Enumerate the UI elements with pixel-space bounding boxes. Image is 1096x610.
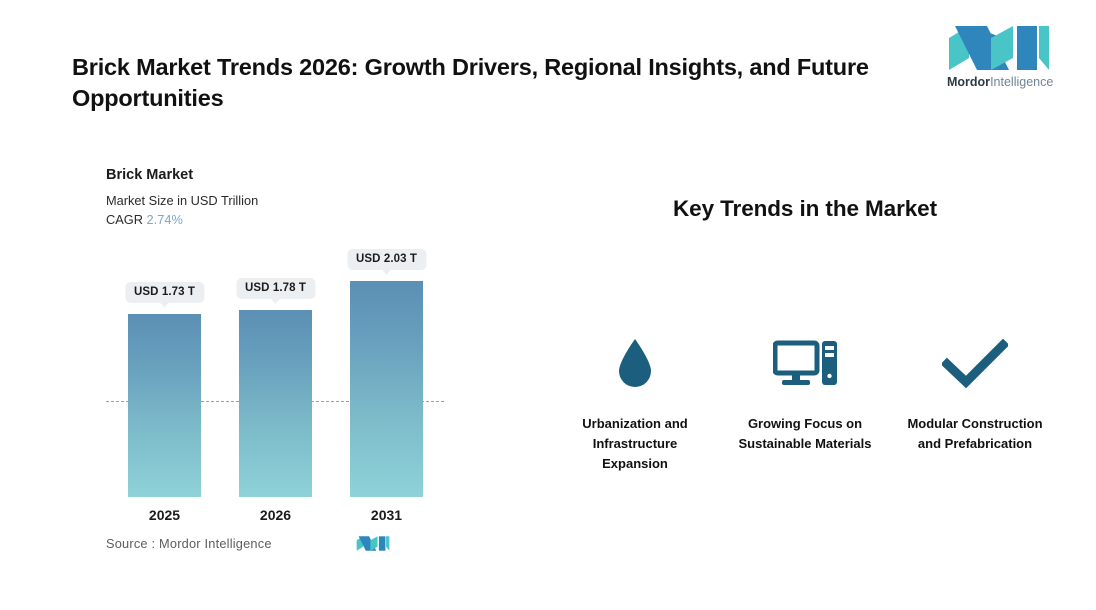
- checkmark-icon: [900, 336, 1050, 392]
- cagr-label: CAGR: [106, 212, 143, 227]
- bar-2031[interactable]: [350, 281, 423, 497]
- chart-title: Brick Market: [106, 166, 466, 184]
- desktop-computer-icon: [730, 336, 880, 392]
- source-label: Source : Mordor Intelligence: [106, 536, 272, 551]
- chart-source-row: Source : Mordor Intelligence: [106, 535, 446, 552]
- water-droplet-icon: [560, 336, 710, 392]
- trend-item-urbanization: Urbanization and Infrastructure Expansio…: [560, 336, 710, 474]
- bar-group-2031: USD 2.03 T 2031: [350, 252, 423, 497]
- bar-year-2026: 2026: [260, 507, 291, 523]
- trend-item-modular-construction: Modular Construction and Prefabrication: [900, 336, 1050, 474]
- bar-group-2026: USD 1.78 T 2026: [239, 252, 312, 497]
- mordor-intelligence-logo: MordorIntelligence: [947, 24, 1051, 96]
- bar-value-label-2025: USD 1.73 T: [125, 282, 204, 303]
- key-trends-panel: Key Trends in the Market Urbanization an…: [560, 196, 1050, 222]
- bar-value-label-2026: USD 1.78 T: [236, 278, 315, 299]
- bar-group-2025: USD 1.73 T 2025: [128, 252, 201, 497]
- water-droplet-icon-glyph: [613, 336, 657, 392]
- trend-label-sustainable-materials: Growing Focus on Sustainable Materials: [730, 414, 880, 454]
- bar-year-2031: 2031: [371, 507, 402, 523]
- checkmark-icon-glyph: [942, 339, 1008, 389]
- cagr-value: 2.74%: [147, 212, 183, 227]
- logo-word-light: Intelligence: [990, 75, 1053, 89]
- chart-panel: Brick Market Market Size in USD Trillion…: [106, 166, 466, 566]
- bar-chart-plot: USD 1.73 T 2025 USD 1.78 T 2026 USD 2.03…: [106, 252, 466, 497]
- mordor-logo-wordmark: MordorIntelligence: [947, 75, 1051, 89]
- bar-2025[interactable]: [128, 314, 201, 497]
- chart-subtitle: Market Size in USD Trillion: [106, 193, 466, 208]
- mordor-logo-mark: [947, 24, 1051, 72]
- chart-cagr: CAGR 2.74%: [106, 212, 466, 227]
- trend-label-urbanization: Urbanization and Infrastructure Expansio…: [560, 414, 710, 474]
- bar-year-2025: 2025: [149, 507, 180, 523]
- key-trends-list: Urbanization and Infrastructure Expansio…: [560, 336, 1050, 474]
- bar-value-label-2031: USD 2.03 T: [347, 249, 426, 270]
- bar-2026[interactable]: [239, 310, 312, 497]
- key-trends-heading: Key Trends in the Market: [560, 196, 1050, 222]
- trend-label-modular-construction: Modular Construction and Prefabrication: [900, 414, 1050, 454]
- desktop-computer-icon-glyph: [773, 338, 837, 390]
- trend-item-sustainable-materials: Growing Focus on Sustainable Materials: [730, 336, 880, 474]
- page-title: Brick Market Trends 2026: Growth Drivers…: [72, 52, 872, 115]
- logo-word-bold: Mordor: [947, 75, 990, 89]
- source-mordor-logo-mark: [356, 535, 390, 552]
